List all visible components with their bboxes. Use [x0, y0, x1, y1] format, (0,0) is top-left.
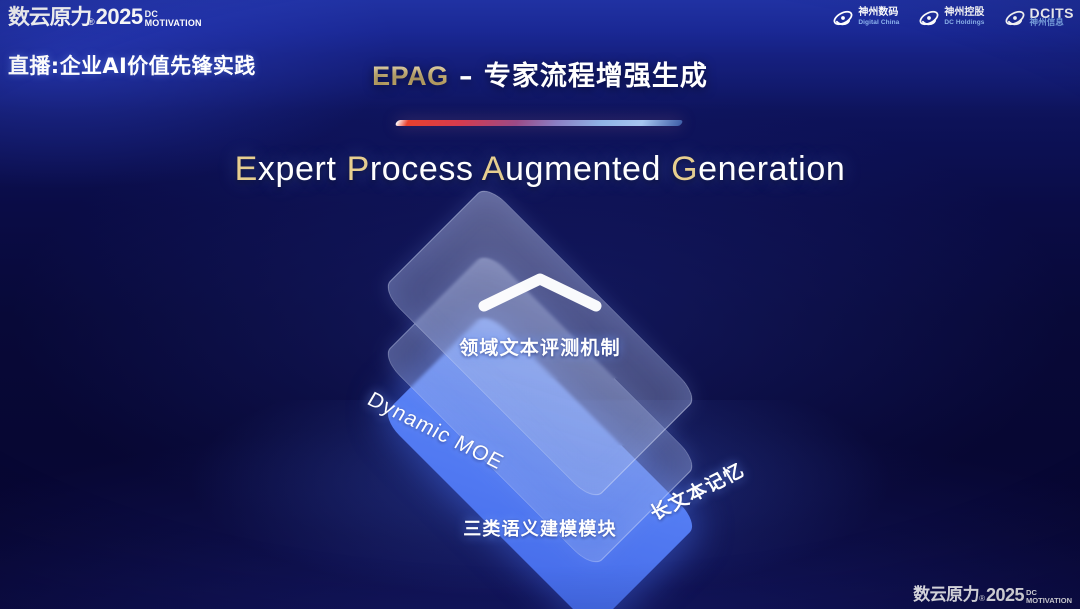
- partner-name-en: Digital China: [858, 18, 899, 28]
- brand-logo-cn: 数云原力: [8, 5, 91, 29]
- subtitle-initial-p: P: [347, 150, 370, 188]
- subtitle-word-augmented: ugmented: [505, 150, 661, 188]
- brand-logo-year: 2025: [96, 5, 143, 29]
- subtitle-initial-a: A: [482, 150, 505, 188]
- subtitle-word-generation: eneration: [698, 150, 845, 188]
- subtitle-initial-e: E: [235, 150, 258, 188]
- swirl-icon: [1004, 7, 1026, 29]
- subtitle-initial-g: G: [671, 150, 698, 188]
- layer-stack-diagram: 领域文本评测机制 Dynamic MOE 长文本记忆 三类语义建模模块: [275, 225, 805, 570]
- title-chinese: 专家流程增强生成: [484, 61, 708, 92]
- gradient-accent-bar: [395, 120, 684, 126]
- brand-logo-motivation: MOTIVATION: [145, 19, 202, 28]
- partner-name-en: DCITS: [1030, 8, 1075, 18]
- bottom-layer-label: 三类语义建模模块: [275, 515, 805, 541]
- watermark-dc-motivation: DC MOTIVATION: [1026, 589, 1072, 604]
- partner-name-cn: 神州信息: [1030, 18, 1075, 28]
- partner-logo-shenzhou-digital: 神州数码 Digital China: [832, 6, 899, 31]
- page-subtitle-english: Expert Process Augmented Generation: [0, 150, 1080, 189]
- footer-watermark: 数云原力 ® 2025 DC MOTIVATION: [913, 586, 1072, 605]
- header-brand-logo: 数云原力 ® 2025 DC MOTIVATION: [8, 3, 202, 29]
- partner-name-cn: 神州数码: [858, 8, 899, 18]
- partner-logo-dc-holdings: 神州控股 DC Holdings: [918, 6, 984, 31]
- top-layer-label: 领域文本评测机制: [275, 333, 805, 360]
- chevron-up-icon: [476, 270, 604, 312]
- subtitle-word-expert: xpert: [258, 150, 337, 188]
- swirl-icon: [832, 7, 854, 29]
- watermark-motivation: MOTIVATION: [1026, 597, 1072, 605]
- partner-logo-dcits: DCITS 神州信息: [1004, 6, 1075, 31]
- page-title: EPAG – 专家流程增强生成: [0, 54, 1080, 93]
- partner-logo-group: 神州数码 Digital China 神州控股 DC Holdings: [832, 4, 1074, 32]
- title-abbreviation: EPAG: [372, 61, 449, 91]
- brand-logo-dc-motivation: DC MOTIVATION: [145, 10, 202, 28]
- watermark-cn: 数云原力: [913, 586, 979, 605]
- swirl-icon: [918, 7, 940, 29]
- slide-canvas: 数云原力 ® 2025 DC MOTIVATION 直播:企业AI价值先锋实践 …: [0, 0, 1080, 609]
- partner-name-en: DC Holdings: [944, 18, 984, 28]
- partner-name-cn: 神州控股: [944, 8, 984, 18]
- watermark-registered: ®: [979, 593, 985, 605]
- subtitle-word-process: rocess: [370, 150, 474, 188]
- title-separator: –: [449, 61, 484, 92]
- watermark-year: 2025: [986, 586, 1024, 605]
